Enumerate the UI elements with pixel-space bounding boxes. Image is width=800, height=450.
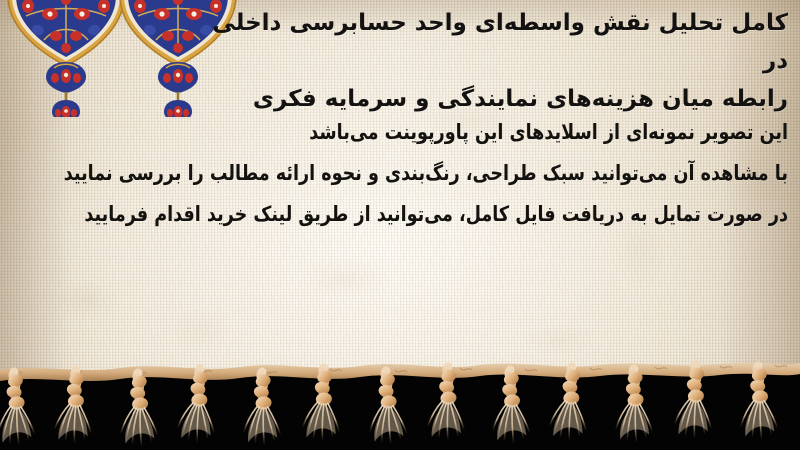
presentation-slide: کامل تحلیل نقش واسطه‌ای واحد حسابرسی داخ… (0, 0, 800, 450)
body-line-3: در صورت تمایل به دریافت فایل کامل، می‌تو… (63, 194, 788, 235)
body-line-1: این تصویر نمونه‌ای از اسلایدهای این پاور… (63, 112, 788, 153)
slide-body: این تصویر نمونه‌ای از اسلایدهای این پاور… (63, 112, 788, 235)
carpet-tassel-fringe (0, 350, 800, 450)
slide-title: کامل تحلیل نقش واسطه‌ای واحد حسابرسی داخ… (188, 4, 788, 118)
title-line-1: کامل تحلیل نقش واسطه‌ای واحد حسابرسی داخ… (188, 4, 788, 80)
body-line-2: با مشاهده آن می‌توانید سبک طراحی، رنگ‌بن… (63, 153, 788, 194)
